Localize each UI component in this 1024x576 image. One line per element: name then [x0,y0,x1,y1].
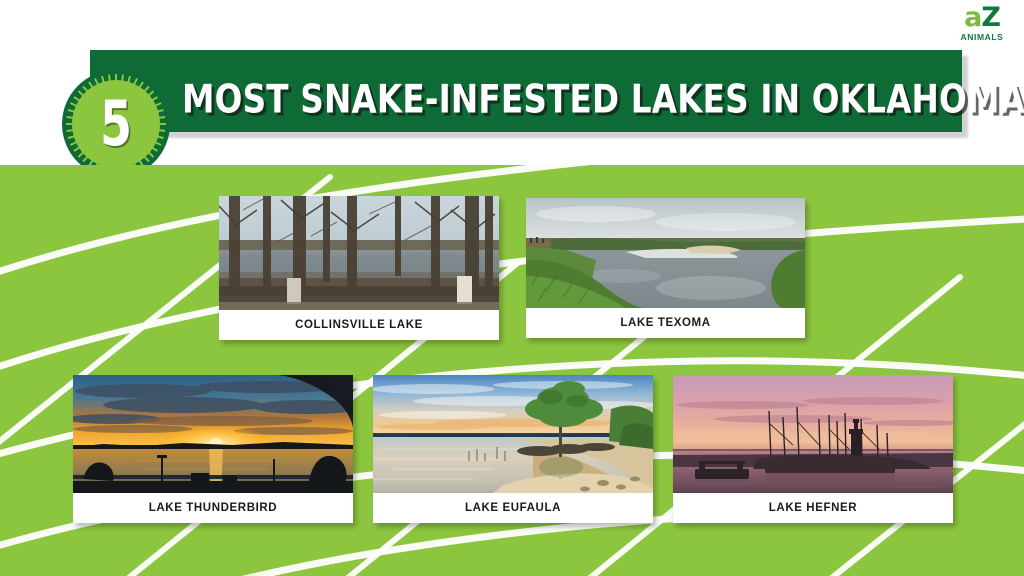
logo-letter-a: a [964,2,981,33]
lake-card-texoma[interactable]: LAKE TEXOMA [526,198,805,338]
lake-photo-hefner [673,375,953,493]
lake-label-thunderbird: LAKE THUNDERBIRD [73,493,353,523]
az-animals-logo: aZ ANIMALS [954,4,1010,46]
lake-photo-texoma [526,198,805,308]
rank-badge: 5 [62,70,170,178]
lake-card-collinsville[interactable]: COLLINSVILLE LAKE [219,196,499,340]
logo-wordmark: ANIMALS [954,32,1010,42]
lake-card-thunderbird[interactable]: LAKE THUNDERBIRD [73,375,353,523]
lake-card-eufaula[interactable]: LAKE EUFAULA [373,375,653,523]
lake-photo-eufaula [373,375,653,493]
lake-label-texoma: LAKE TEXOMA [526,308,805,338]
lake-photo-collinsville [219,196,499,310]
badge-number: 5 [72,70,161,178]
lake-card-hefner[interactable]: LAKE HEFNER [673,375,953,523]
page-title: MOST SNAKE-INFESTED LAKES IN OKLAHOMA [182,78,1024,123]
lake-photo-thunderbird [73,375,353,493]
lake-label-eufaula: LAKE EUFAULA [373,493,653,523]
header-banner: MOST SNAKE-INFESTED LAKES IN OKLAHOMA [0,42,1024,142]
logo-mark: aZ [954,4,1010,31]
lake-label-hefner: LAKE HEFNER [673,493,953,523]
logo-letter-z: Z [981,2,1000,33]
content-panel: COLLINSVILLE LAKE [0,165,1024,576]
lake-label-collinsville: COLLINSVILLE LAKE [219,310,499,340]
infographic-page: aZ ANIMALS MOST SNAKE-INFESTED LAKES IN … [0,0,1024,576]
